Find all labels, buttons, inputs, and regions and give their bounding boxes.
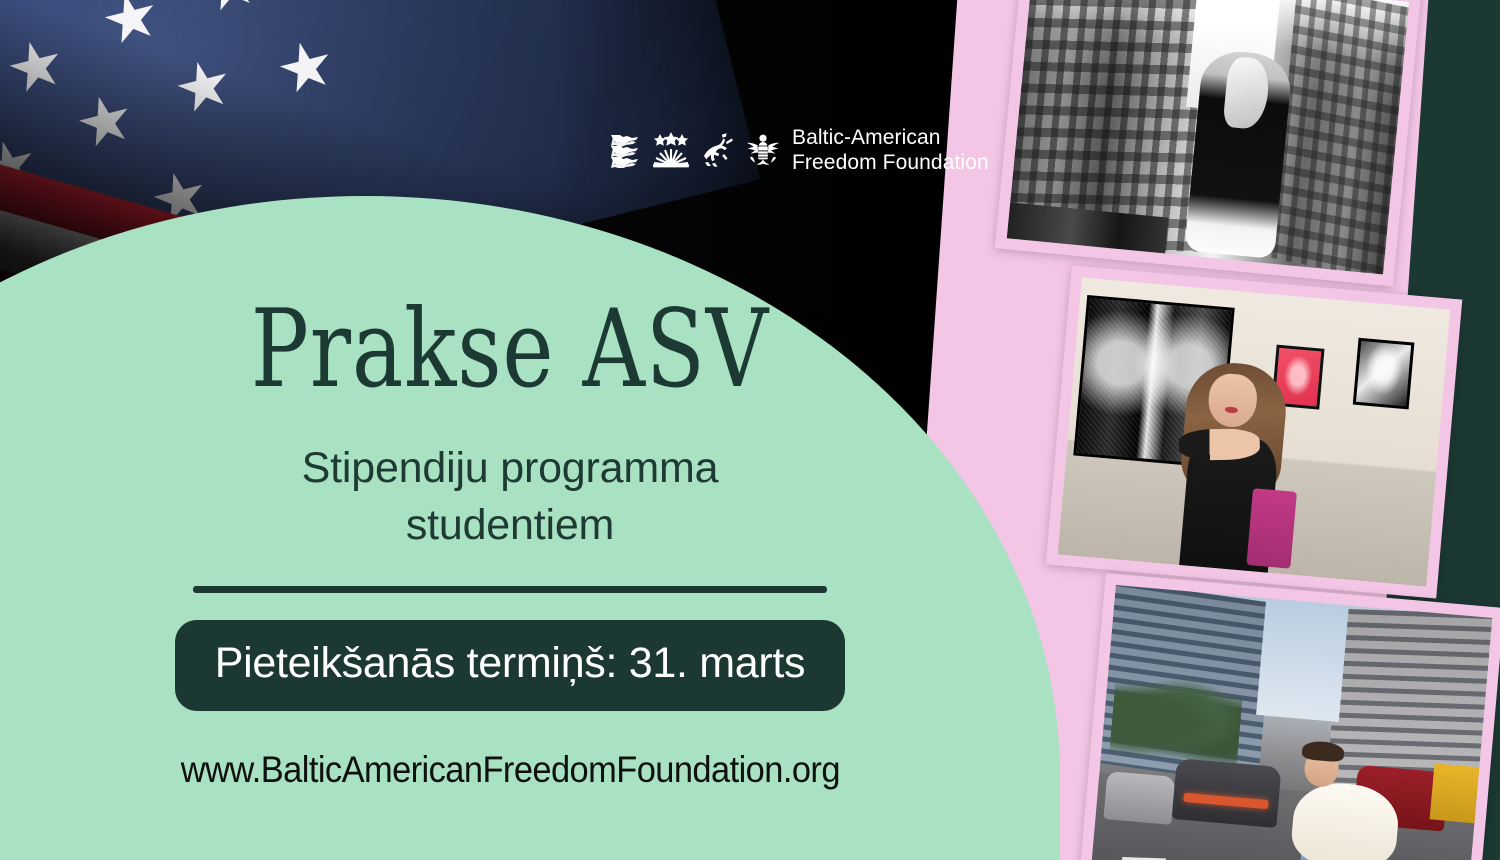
- lithuanian-vytis-knight-icon: [700, 132, 736, 168]
- logo-wordmark-line-2: Freedom Foundation: [792, 150, 989, 175]
- latvian-stars-sunburst-icon: [651, 132, 691, 168]
- logo-wordmark-line-1: Baltic-American: [792, 125, 989, 150]
- photo-woman-skyscrapers-bw: [995, 0, 1422, 286]
- photo-woman-city-street: [1080, 573, 1500, 860]
- poster: Baltic-American Freedom Foundation Praks…: [0, 0, 1500, 860]
- logo-emblems: [608, 132, 781, 168]
- baltic-american-freedom-foundation-logo: Baltic-American Freedom Foundation: [608, 125, 989, 175]
- photo-woman-art-gallery: [1046, 265, 1463, 598]
- estonian-lions-crest-icon: [608, 132, 642, 168]
- logo-wordmark: Baltic-American Freedom Foundation: [792, 125, 989, 175]
- us-great-seal-eagle-icon: [745, 132, 781, 168]
